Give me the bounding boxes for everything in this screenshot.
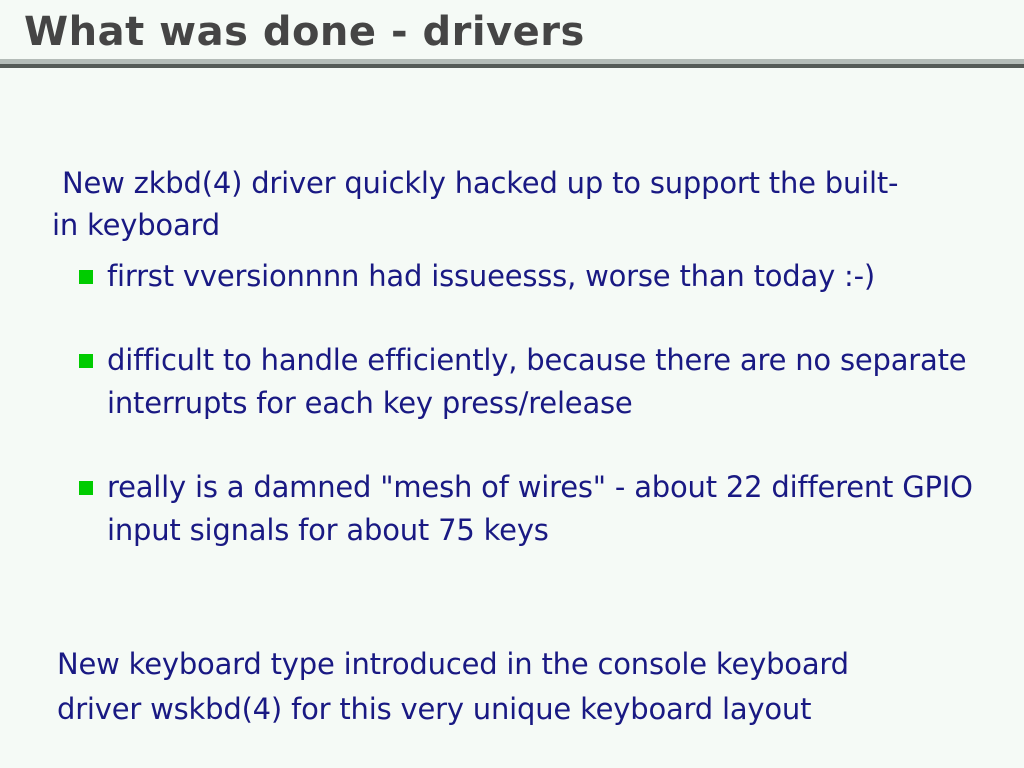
- divider-dark-band: [0, 64, 1024, 68]
- list-item-label: difficult to handle efficiently, because…: [107, 339, 1024, 425]
- bullet-list: firrst vversionnnn had issueesss, worse …: [0, 255, 1024, 552]
- square-bullet-icon: [79, 354, 93, 368]
- square-bullet-icon: [79, 481, 93, 495]
- intro-paragraph: New zkbd(4) driver quickly hacked up to …: [52, 162, 912, 246]
- list-item: really is a damned "mesh of wires" - abo…: [0, 466, 1024, 552]
- slide-body: New zkbd(4) driver quickly hacked up to …: [0, 70, 1024, 768]
- title-divider: [0, 59, 1024, 68]
- square-bullet-icon: [79, 270, 93, 284]
- list-item: difficult to handle efficiently, because…: [0, 339, 1024, 425]
- presentation-slide: What was done - drivers New zkbd(4) driv…: [0, 0, 1024, 768]
- page-title: What was done - drivers: [24, 8, 585, 56]
- outro-paragraph: New keyboard type introduced in the cons…: [57, 642, 937, 732]
- list-item-label: really is a damned "mesh of wires" - abo…: [107, 466, 1024, 552]
- list-item: firrst vversionnnn had issueesss, worse …: [0, 255, 1024, 298]
- list-item-label: firrst vversionnnn had issueesss, worse …: [107, 255, 1024, 298]
- slide-header: What was done - drivers: [0, 0, 1024, 70]
